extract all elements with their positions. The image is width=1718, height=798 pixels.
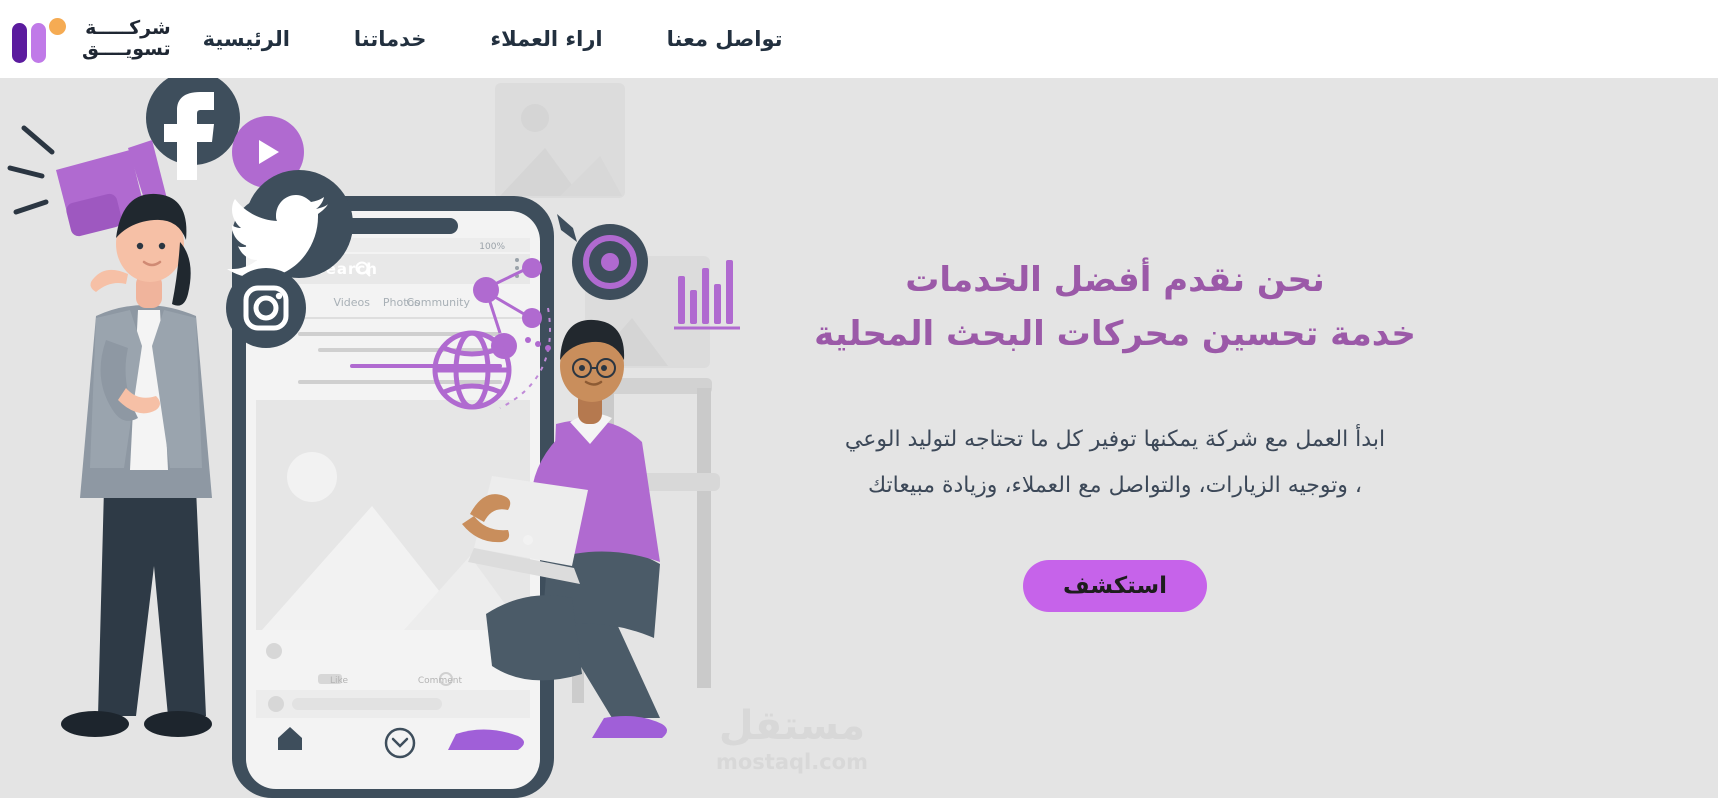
nav-item-contact[interactable]: تواصل معنا — [663, 21, 787, 57]
logo-mark-icon — [10, 15, 72, 63]
svg-text:Community: Community — [406, 296, 470, 309]
logo-dot-icon — [49, 18, 66, 35]
page-root: شركـــــة تسويــــق الرئيسية خدماتنا ارا… — [0, 0, 1718, 798]
nav-item-services[interactable]: خدماتنا — [350, 21, 431, 57]
logo-line-1: شركـــــة — [82, 18, 171, 39]
site-logo[interactable]: شركـــــة تسويــــق — [10, 15, 171, 63]
hero-paragraph-line-1: ابدأ العمل مع شركة يمكنها توفير كل ما تح… — [770, 417, 1460, 462]
logo-line-2: تسويــــق — [82, 39, 171, 60]
logo-text: شركـــــة تسويــــق — [82, 18, 171, 59]
hero-illustration: 100% Search Videos Photos Community — [0, 78, 820, 798]
site-header: شركـــــة تسويــــق الرئيسية خدماتنا ارا… — [0, 0, 1718, 78]
svg-text:Comment: Comment — [418, 676, 463, 686]
hero-headline-line-1: نحن نقدم أفضل الخدمات — [770, 254, 1460, 308]
svg-text:Videos: Videos — [333, 296, 370, 309]
nav-item-home[interactable]: الرئيسية — [199, 21, 294, 57]
logo-pill-light-icon — [31, 23, 46, 63]
nav-item-testimonials[interactable]: اراء العملاء — [486, 21, 606, 57]
svg-text:Like: Like — [330, 676, 348, 686]
hero-paragraph: ابدأ العمل مع شركة يمكنها توفير كل ما تح… — [770, 417, 1460, 507]
hero-paragraph-line-2: ، وتوجيه الزيارات، والتواصل مع العملاء، … — [770, 463, 1460, 508]
hero-copy: نحن نقدم أفضل الخدمات خدمة تحسين محركات … — [770, 254, 1460, 612]
explore-button[interactable]: استكشف — [1023, 560, 1207, 612]
svg-text:100%: 100% — [479, 242, 505, 252]
hero-headline-line-2: خدمة تحسين محركات البحث المحلية — [770, 308, 1460, 362]
hero-cta-row: استكشف — [770, 560, 1460, 612]
hero-section: 100% Search Videos Photos Community — [0, 78, 1718, 798]
main-navigation: الرئيسية خدماتنا اراء العملاء تواصل معنا — [199, 21, 787, 57]
logo-pill-dark-icon — [12, 23, 27, 63]
